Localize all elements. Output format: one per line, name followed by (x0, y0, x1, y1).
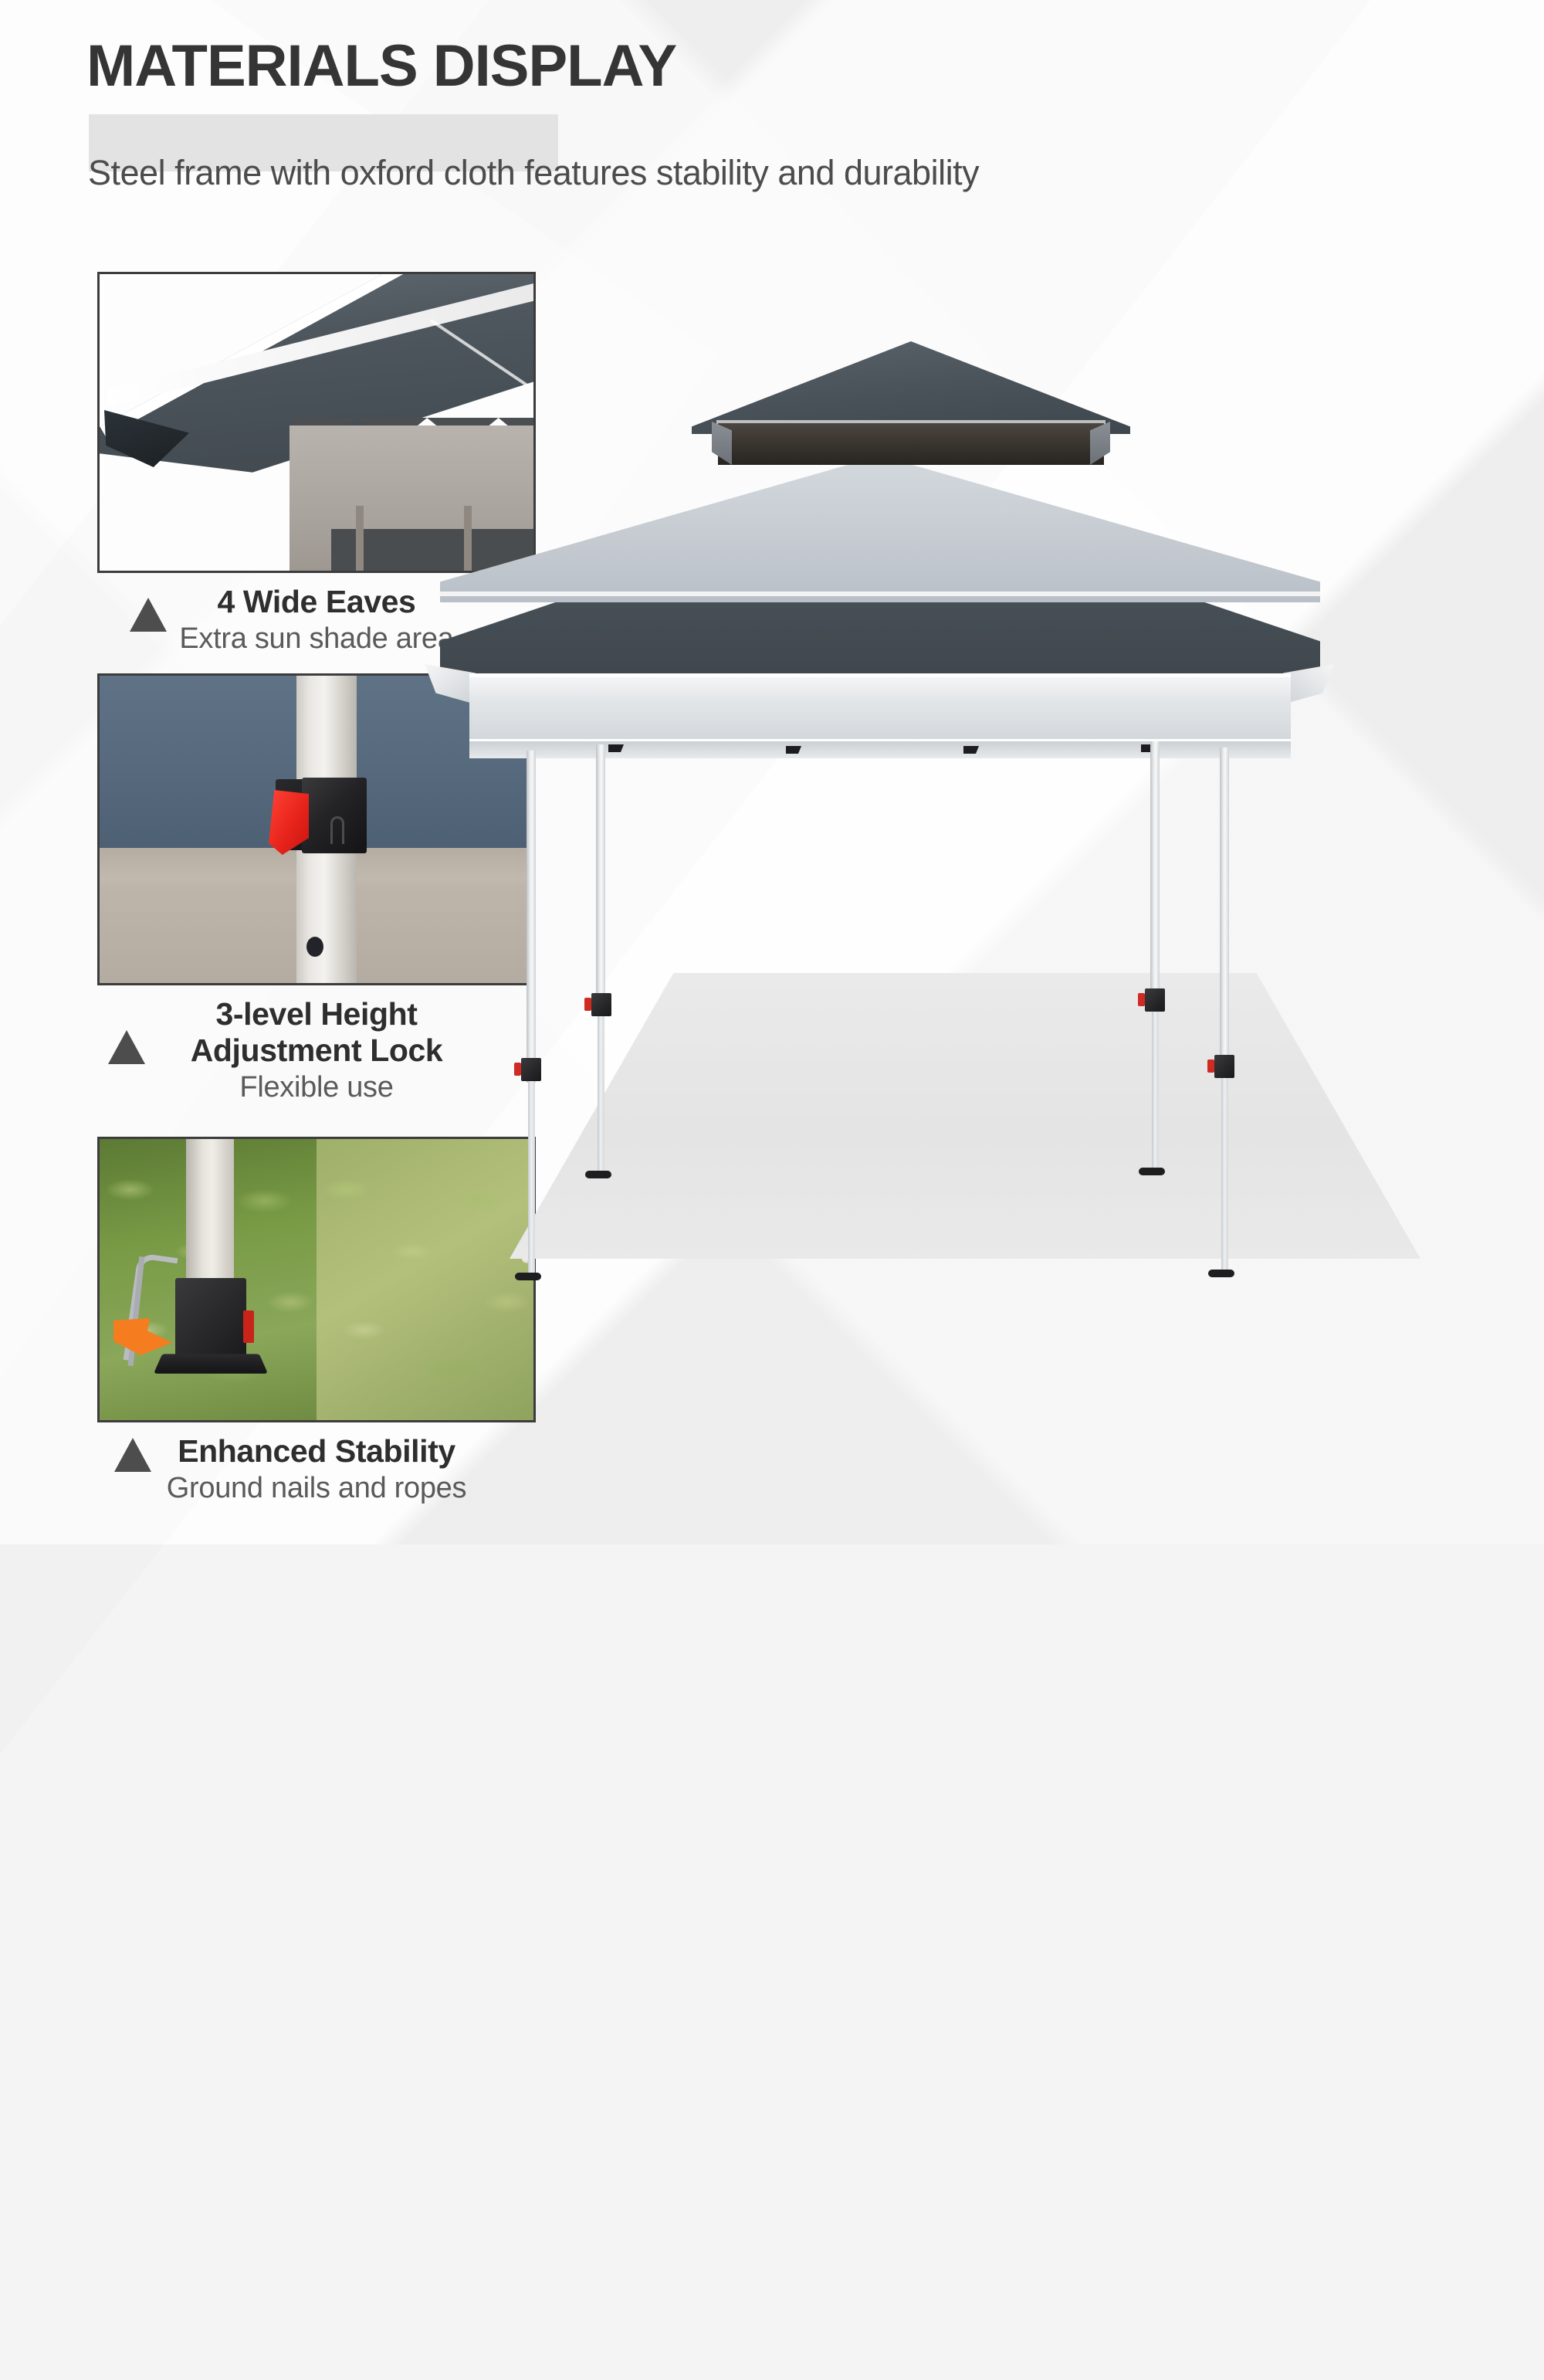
roof-vent-shadow-band (718, 423, 1104, 465)
leg-height-lock (1214, 1055, 1234, 1078)
caption-height-lock: 3-level Height Adjustment Lock Flexible … (97, 996, 536, 1106)
roof-light-band (440, 456, 1320, 602)
leg-foot-pad (515, 1273, 541, 1280)
product-illustration-gazebo (540, 432, 1544, 1297)
feature-title-line2: Adjustment Lock (97, 1032, 536, 1069)
gazebo-leg-front-right-lower (1221, 1067, 1228, 1274)
floor-shadow (510, 973, 1420, 1259)
leg-foot-pad (1139, 1168, 1165, 1175)
leg-height-lock (591, 993, 611, 1016)
leg-foot-housing (175, 1278, 246, 1358)
leg-foot-pad (1208, 1270, 1234, 1277)
leg-foot-pad (585, 1171, 611, 1178)
page-subtitle: Steel frame with oxford cloth features s… (88, 153, 979, 193)
roof-seam-line (440, 592, 1320, 596)
gazebo-leg-back-left (596, 744, 605, 1015)
canopy-valance-underside (469, 741, 1291, 758)
caption-enhanced-stability: Enhanced Stability Ground nails and rope… (97, 1433, 536, 1507)
feature-title-line1: 3-level Height (97, 996, 536, 1032)
photo-wide-eaves (97, 272, 536, 573)
photo-enhanced-stability (97, 1137, 536, 1422)
gazebo-leg-back-right (1150, 741, 1160, 1010)
photo-half-rope-tie (317, 1139, 533, 1420)
canopy-valance (469, 673, 1291, 743)
gazebo-leg-front-left (527, 751, 536, 1083)
leg-lock-lever (1138, 993, 1145, 1006)
lock-slot-icon (330, 816, 344, 844)
leg-lock-lever (514, 1063, 521, 1076)
gazebo-leg-front-left-lower (528, 1070, 535, 1277)
leg-lock-lever (584, 998, 591, 1011)
gazebo-leg-front-right (1220, 748, 1229, 1078)
gazebo-pole-left (356, 506, 364, 573)
page-title: MATERIALS DISPLAY (86, 37, 676, 96)
gazebo-leg-back-right-lower (1152, 1001, 1159, 1172)
photo-half-ground-nail (100, 1139, 317, 1420)
gazebo-pole-right (464, 506, 472, 573)
triangle-bullet-icon (114, 1438, 151, 1472)
feature-title: Enhanced Stability (97, 1433, 536, 1470)
leg-height-lock (521, 1058, 541, 1081)
leg-lock-lever (1207, 1059, 1214, 1073)
feature-subtitle: Ground nails and ropes (97, 1471, 536, 1507)
triangle-bullet-icon (130, 598, 167, 632)
pole-adjustment-hole (306, 937, 323, 957)
gazebo-leg-back-left-lower (598, 1005, 604, 1175)
grass-texture (317, 1139, 533, 1420)
leg-base-plate (154, 1354, 268, 1373)
foot-red-lever (243, 1310, 254, 1343)
feature-subtitle: Flexible use (97, 1070, 536, 1106)
triangle-bullet-icon (108, 1030, 145, 1064)
leg-height-lock (1145, 988, 1165, 1012)
